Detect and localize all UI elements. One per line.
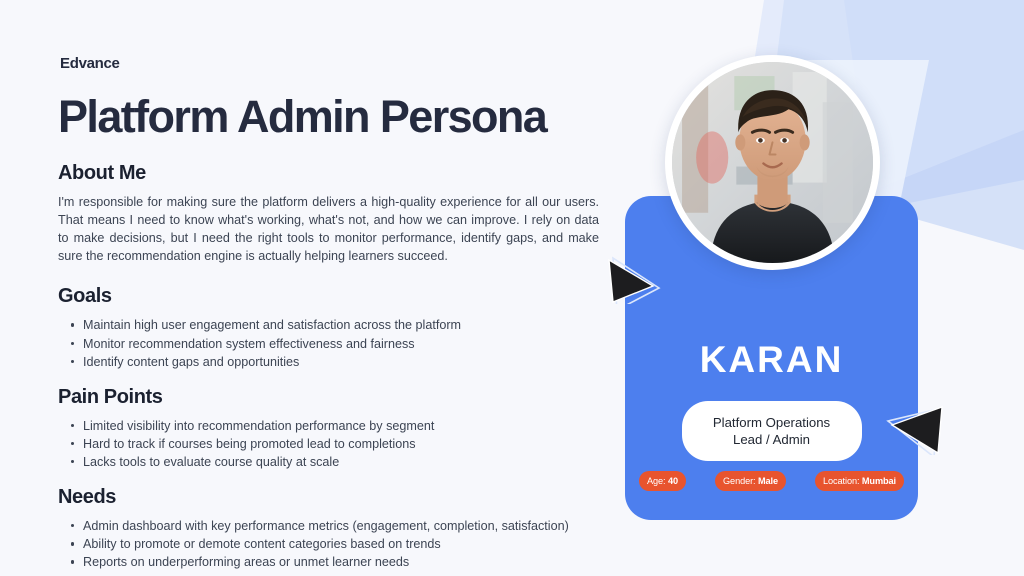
pain-points-list: Limited visibility into recommendation p…: [58, 418, 618, 470]
needs-list: Admin dashboard with key performance met…: [58, 518, 618, 570]
persona-role-badge: Platform Operations Lead / Admin: [682, 401, 862, 461]
goals-heading: Goals: [58, 285, 618, 308]
list-item: Reports on underperforming areas or unme…: [83, 554, 618, 570]
needs-section: Needs Admin dashboard with key performan…: [58, 486, 618, 570]
meta-pill-location: Location: Mumbai: [815, 471, 904, 491]
persona-role-line-2: Lead / Admin: [733, 432, 810, 447]
persona-meta-row: Age: 40 Gender: Male Location: Mumbai: [639, 471, 904, 491]
goals-section: Goals Maintain high user engagement and …: [58, 285, 618, 369]
meta-value-gender: Male: [758, 476, 778, 486]
arrow-right-decoration-icon: [886, 403, 948, 455]
list-item: Admin dashboard with key performance met…: [83, 518, 618, 534]
avatar-portrait-illustration: [672, 62, 873, 263]
avatar: [665, 55, 880, 270]
pain-points-section: Pain Points Limited visibility into reco…: [58, 386, 618, 470]
list-item: Identify content gaps and opportunities: [83, 354, 618, 370]
about-heading: About Me: [58, 162, 618, 185]
meta-pill-age: Age: 40: [639, 471, 686, 491]
persona-slide: Edvance Platform Admin Persona About Me …: [0, 0, 1024, 576]
goals-list: Maintain high user engagement and satisf…: [58, 317, 618, 369]
meta-label-gender: Gender:: [723, 476, 756, 486]
needs-heading: Needs: [58, 486, 618, 509]
list-item: Ability to promote or demote content cat…: [83, 536, 618, 552]
list-item: Limited visibility into recommendation p…: [83, 418, 618, 434]
page-title: Platform Admin Persona: [58, 94, 618, 140]
arrow-left-decoration-icon: [603, 252, 665, 304]
persona-role-line-1: Platform Operations: [713, 415, 830, 430]
meta-label-age: Age:: [647, 476, 666, 486]
about-section: About Me I'm responsible for making sure…: [58, 162, 618, 266]
persona-name: KARAN: [625, 339, 918, 381]
pain-points-heading: Pain Points: [58, 386, 618, 409]
meta-pill-gender: Gender: Male: [715, 471, 786, 491]
list-item: Monitor recommendation system effectiven…: [83, 336, 618, 352]
meta-label-location: Location:: [823, 476, 859, 486]
meta-value-age: 40: [668, 476, 678, 486]
brand-logo: Edvance: [60, 55, 618, 72]
avatar-photo: [672, 62, 873, 263]
list-item: Lacks tools to evaluate course quality a…: [83, 454, 618, 470]
about-body-text: I'm responsible for making sure the plat…: [58, 194, 599, 266]
list-item: Maintain high user engagement and satisf…: [83, 317, 618, 333]
list-item: Hard to track if courses being promoted …: [83, 436, 618, 452]
meta-value-location: Mumbai: [862, 476, 896, 486]
content-column: Edvance Platform Admin Persona About Me …: [58, 55, 618, 576]
